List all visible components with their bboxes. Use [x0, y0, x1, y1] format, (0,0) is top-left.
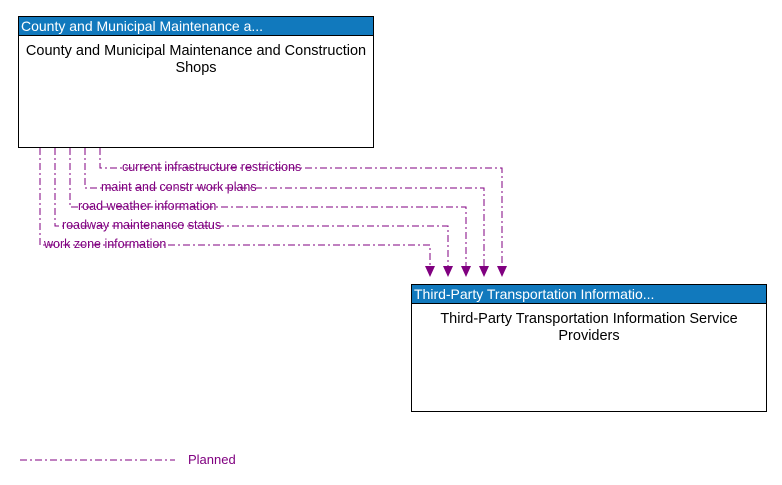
entity-box-third-party-transportation-information[interactable]: Third-Party Transportation Informatio...… — [411, 284, 767, 412]
flow-label-work-zone-information[interactable]: work zone information — [44, 238, 166, 251]
arrowhead-icon-5 — [497, 266, 507, 277]
arrowhead-icon-2 — [443, 266, 453, 277]
entity-title-bar-tpts: Third-Party Transportation Informatio... — [412, 285, 766, 304]
legend-label-planned: Planned — [188, 453, 236, 467]
legend-line-sample — [0, 448, 782, 478]
flow-label-maint-and-constr-work-plans[interactable]: maint and constr work plans — [101, 181, 257, 194]
legend: Planned — [0, 448, 782, 478]
entity-name-tpts: Third-Party Transportation Information S… — [412, 304, 766, 345]
arrowhead-icon-3 — [461, 266, 471, 277]
arrowhead-icon-4 — [479, 266, 489, 277]
entity-box-county-municipal-maintenance[interactable]: County and Municipal Maintenance a... Co… — [18, 16, 374, 148]
flow-label-roadway-maintenance-status[interactable]: roadway maintenance status — [62, 219, 221, 232]
arrowhead-icon-1 — [425, 266, 435, 277]
entity-title-bar-county: County and Municipal Maintenance a... — [19, 17, 373, 36]
flow-label-current-infrastructure-restrictions[interactable]: current infrastructure restrictions — [122, 161, 301, 174]
diagram-canvas: County and Municipal Maintenance a... Co… — [0, 0, 782, 485]
flow-arrowheads — [425, 266, 507, 277]
flow-label-road-weather-information[interactable]: road weather information — [78, 200, 216, 213]
entity-name-county: County and Municipal Maintenance and Con… — [19, 36, 373, 77]
